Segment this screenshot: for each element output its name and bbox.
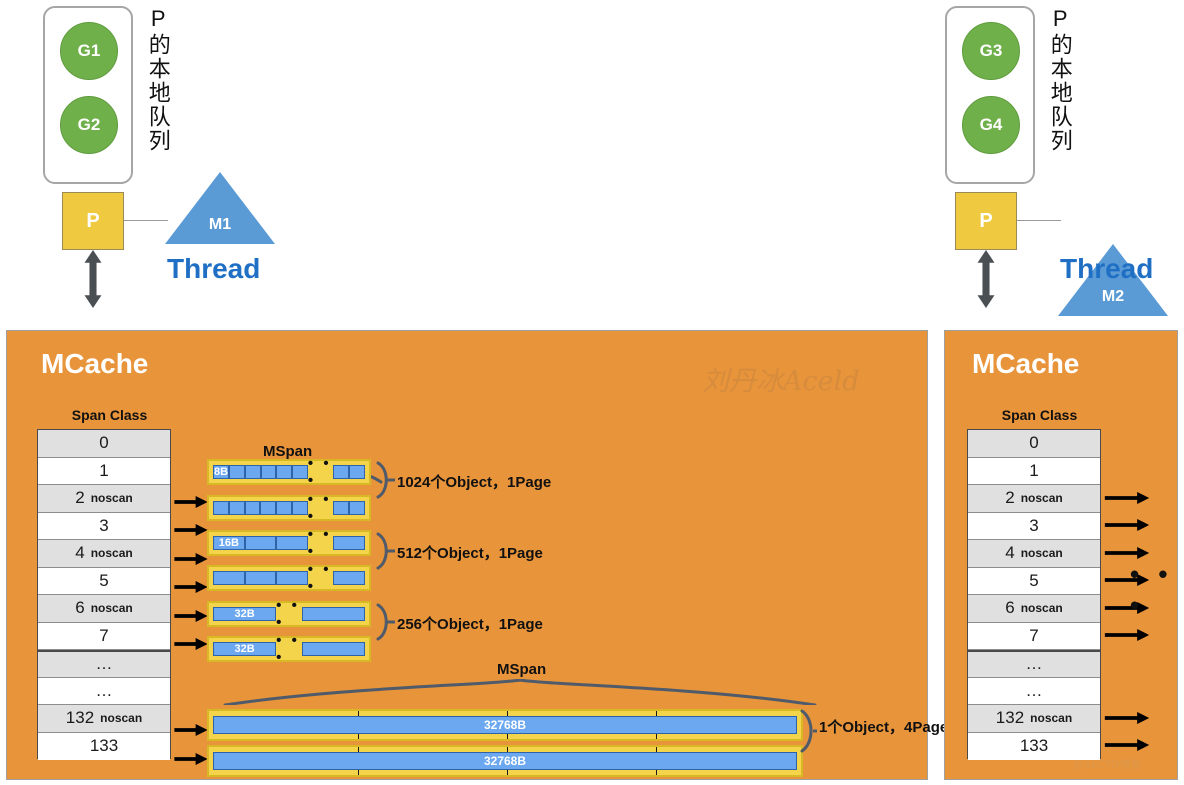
mspan-large-object-block[interactable]: 32768B [213, 752, 797, 770]
mspan-small-annotation-0: 1024个Object，1Page [397, 471, 551, 492]
span-class-noscan-tag: noscan [91, 601, 133, 615]
left-large-mspan-brace [223, 679, 817, 705]
span-class-row-5[interactable]: 5 [968, 568, 1100, 596]
center-watermark: 刘丹冰Aceld [702, 359, 860, 398]
mspan-object-size-label[interactable]: 32B [213, 607, 276, 621]
left-m-label: M1 [165, 216, 275, 234]
span-class-row-4[interactable]: 4noscan [968, 540, 1100, 568]
span-class-arrow-3 [173, 524, 209, 536]
span-class-row-6[interactable]: 6noscan [968, 595, 1100, 623]
span-class-row-5[interactable]: 5 [38, 568, 170, 596]
mspan-object-block[interactable] [292, 501, 308, 515]
mspan-object-block[interactable] [229, 501, 245, 515]
corner-watermark: @51CTO博客 [1073, 756, 1141, 772]
mspan-ellipsis: • • • [308, 532, 334, 554]
span-class-noscan-tag: noscan [91, 491, 133, 505]
span-class-row-2[interactable]: 2noscan [38, 485, 170, 513]
span-class-row-ellipsis[interactable]: … [38, 678, 170, 706]
span-class-arrow-133 [1103, 739, 1151, 751]
span-class-row-132[interactable]: 132noscan [968, 705, 1100, 733]
span-class-arrow-6 [173, 610, 209, 622]
span-class-index: 2 [75, 488, 84, 508]
mspan-object-block[interactable] [333, 501, 349, 515]
right-span-class-header: Span Class [967, 407, 1112, 423]
left-large-mspan-label: MSpan [497, 661, 546, 678]
span-class-row-2[interactable]: 2noscan [968, 485, 1100, 513]
span-class-index: 1 [1029, 461, 1038, 481]
right-local-queue-box: G3 G4 [945, 6, 1035, 184]
span-class-index: 2 [1005, 488, 1014, 508]
right-p-m-connector [1017, 220, 1061, 221]
span-class-index: … [1026, 681, 1043, 701]
mspan-object-block[interactable] [302, 642, 365, 656]
left-mcache-title: MCache [41, 348, 148, 380]
span-class-row-3[interactable]: 3 [968, 513, 1100, 541]
span-class-arrow-2 [1103, 492, 1151, 504]
span-class-index: 6 [1005, 598, 1014, 618]
span-class-index: 4 [1005, 543, 1014, 563]
mspan-object-block[interactable] [245, 465, 261, 479]
goroutine-g4-label: G4 [980, 115, 1003, 135]
mspan-small-1[interactable]: • • • [207, 495, 371, 521]
mspan-object-block[interactable] [245, 501, 261, 515]
mspan-ellipsis: • • • [308, 567, 334, 589]
span-class-arrow-7 [1103, 629, 1151, 641]
left-large-span-brace [799, 709, 817, 753]
left-span-class-header: Span Class [37, 407, 182, 423]
left-m-triangle[interactable]: M1 [165, 172, 275, 244]
left-span-class-table: 012noscan34noscan56noscan7……132noscan133 [37, 429, 171, 759]
span-class-row-7[interactable]: 7 [38, 623, 170, 651]
span-class-noscan-tag: noscan [100, 711, 142, 725]
mspan-object-block[interactable] [245, 571, 277, 585]
mspan-object-block[interactable] [276, 571, 308, 585]
span-class-arrow-5 [173, 581, 209, 593]
mspan-small-brace-2 [375, 603, 395, 641]
mspan-large-1[interactable]: 32768B [207, 745, 803, 777]
mspan-object-size-label[interactable]: 16B [213, 536, 245, 550]
span-class-row-ellipsis[interactable]: … [968, 678, 1100, 706]
right-thread-label: Thread [1060, 253, 1153, 285]
mspan-object-block[interactable] [349, 501, 365, 515]
span-class-arrow-4 [1103, 547, 1151, 559]
span-class-row-3[interactable]: 3 [38, 513, 170, 541]
span-class-index: 3 [99, 516, 108, 536]
span-class-row-132[interactable]: 132noscan [38, 705, 170, 733]
mspan-small-annotation-1: 512个Object，1Page [397, 542, 543, 563]
mspan-object-block[interactable] [276, 501, 292, 515]
mspan-ellipsis: • • • [308, 461, 334, 483]
span-class-index: … [1026, 654, 1043, 674]
mspan-object-block[interactable] [333, 465, 349, 479]
span-class-index: 0 [1029, 433, 1038, 453]
span-class-noscan-tag: noscan [1030, 711, 1072, 725]
mspan-object-block[interactable] [292, 465, 308, 479]
goroutine-g2[interactable]: G2 [60, 96, 118, 154]
span-class-arrow-132 [173, 724, 209, 736]
left-p-m-connector [124, 220, 168, 221]
mspan-small-0[interactable]: 8B• • • [207, 459, 371, 485]
span-class-index: 0 [99, 433, 108, 453]
left-p-label: P [86, 210, 99, 233]
span-class-noscan-tag: noscan [1021, 546, 1063, 560]
mspan-object-size-label[interactable]: 32B [213, 642, 276, 656]
span-class-arrow-7 [173, 638, 209, 650]
span-class-index: 6 [75, 598, 84, 618]
mspan-object-block[interactable] [213, 501, 229, 515]
span-class-arrow-3 [1103, 519, 1151, 531]
mspan-object-block[interactable] [245, 536, 277, 550]
span-class-index: 5 [99, 571, 108, 591]
mspan-small-brace-0 [375, 461, 395, 499]
span-class-index: … [96, 654, 113, 674]
span-class-index: 132 [66, 708, 94, 728]
span-class-index: 4 [75, 543, 84, 563]
span-class-row-6[interactable]: 6noscan [38, 595, 170, 623]
mspan-object-size-label[interactable]: 8B [213, 465, 229, 479]
span-class-index: 7 [99, 626, 108, 646]
span-class-index: 1 [99, 461, 108, 481]
span-class-index: 7 [1029, 626, 1038, 646]
right-mcache-panel: MCache Span Class 012noscan34noscan56nos… [944, 330, 1178, 780]
mspan-object-block[interactable] [229, 465, 245, 479]
left-small-mspan-label: MSpan [263, 443, 312, 460]
mspan-small-3[interactable]: • • • [207, 565, 371, 591]
span-class-index: 133 [1020, 736, 1048, 756]
span-class-row-7[interactable]: 7 [968, 623, 1100, 651]
right-mcache-title: MCache [972, 348, 1079, 380]
mspan-object-block[interactable] [261, 465, 277, 479]
span-class-row-0[interactable]: 0 [968, 430, 1100, 458]
span-class-index: 3 [1029, 516, 1038, 536]
mspan-small-2[interactable]: 16B• • • [207, 530, 371, 556]
span-class-row-0[interactable]: 0 [38, 430, 170, 458]
right-queue-caption: P的本地队列 [1048, 6, 1072, 186]
span-class-index: 133 [90, 736, 118, 756]
left-p-box[interactable]: P [62, 192, 124, 250]
mspan-object-block[interactable] [213, 571, 245, 585]
goroutine-g3-label: G3 [980, 41, 1003, 61]
span-class-noscan-tag: noscan [91, 546, 133, 560]
mspan-object-block[interactable] [302, 607, 365, 621]
span-class-row-ellipsis[interactable]: … [38, 650, 170, 678]
goroutine-g1[interactable]: G1 [60, 22, 118, 80]
right-m-label: M2 [1058, 288, 1168, 306]
left-p-mcache-arrow [80, 250, 106, 308]
goroutine-g1-label: G1 [78, 41, 101, 61]
mspan-large-object-block[interactable]: 32768B [213, 716, 797, 734]
span-class-noscan-tag: noscan [1021, 601, 1063, 615]
mspan-small-brace-1 [375, 532, 395, 570]
mspan-ellipsis: • • • [276, 638, 302, 660]
mspan-small-5[interactable]: 32B• • • [207, 636, 371, 662]
right-p-mcache-arrow [973, 250, 999, 308]
left-mcache-panel: MCache Span Class 012noscan34noscan56nos… [6, 330, 928, 780]
left-thread-label: Thread [167, 253, 260, 285]
span-class-row-133[interactable]: 133 [38, 733, 170, 761]
span-class-arrow-133 [173, 753, 209, 765]
span-class-index: 132 [996, 708, 1024, 728]
mspan-large-0[interactable]: 32768B [207, 709, 803, 741]
span-class-noscan-tag: noscan [1021, 491, 1063, 505]
span-class-index: 5 [1029, 571, 1038, 591]
span-class-row-1[interactable]: 1 [38, 458, 170, 486]
mspan-object-block[interactable] [260, 501, 276, 515]
mspan-object-block[interactable] [276, 465, 292, 479]
right-span-class-table: 012noscan34noscan56noscan7……132noscan133 [967, 429, 1101, 759]
mspan-object-block[interactable] [349, 465, 365, 479]
span-class-arrow-2 [173, 496, 209, 508]
left-large-span-annotation: 1个Object，4Page [819, 716, 948, 737]
mspan-object-block[interactable] [276, 536, 308, 550]
goroutine-g2-label: G2 [78, 115, 101, 135]
mspan-object-block[interactable] [333, 536, 365, 550]
mspan-small-annotation-2: 256个Object，1Page [397, 613, 543, 634]
right-p-label: P [979, 210, 992, 233]
right-p-box[interactable]: P [955, 192, 1017, 250]
span-class-index: … [96, 681, 113, 701]
mspan-object-block[interactable] [333, 571, 365, 585]
mspan-ellipsis: • • • [308, 497, 334, 519]
span-class-arrow-132 [1103, 712, 1151, 724]
mspan-small-4[interactable]: 32B• • • [207, 601, 371, 627]
goroutine-g4[interactable]: G4 [962, 96, 1020, 154]
mspan-ellipsis: • • • [276, 603, 302, 625]
span-class-row-1[interactable]: 1 [968, 458, 1100, 486]
span-class-arrow-4 [173, 553, 209, 565]
span-class-row-ellipsis[interactable]: … [968, 650, 1100, 678]
left-local-queue-box: G1 G2 [43, 6, 133, 184]
goroutine-g3[interactable]: G3 [962, 22, 1020, 80]
right-mcache-ellipsis: • • • [1130, 559, 1177, 621]
span-class-row-4[interactable]: 4noscan [38, 540, 170, 568]
left-queue-caption: P的本地队列 [146, 6, 170, 186]
